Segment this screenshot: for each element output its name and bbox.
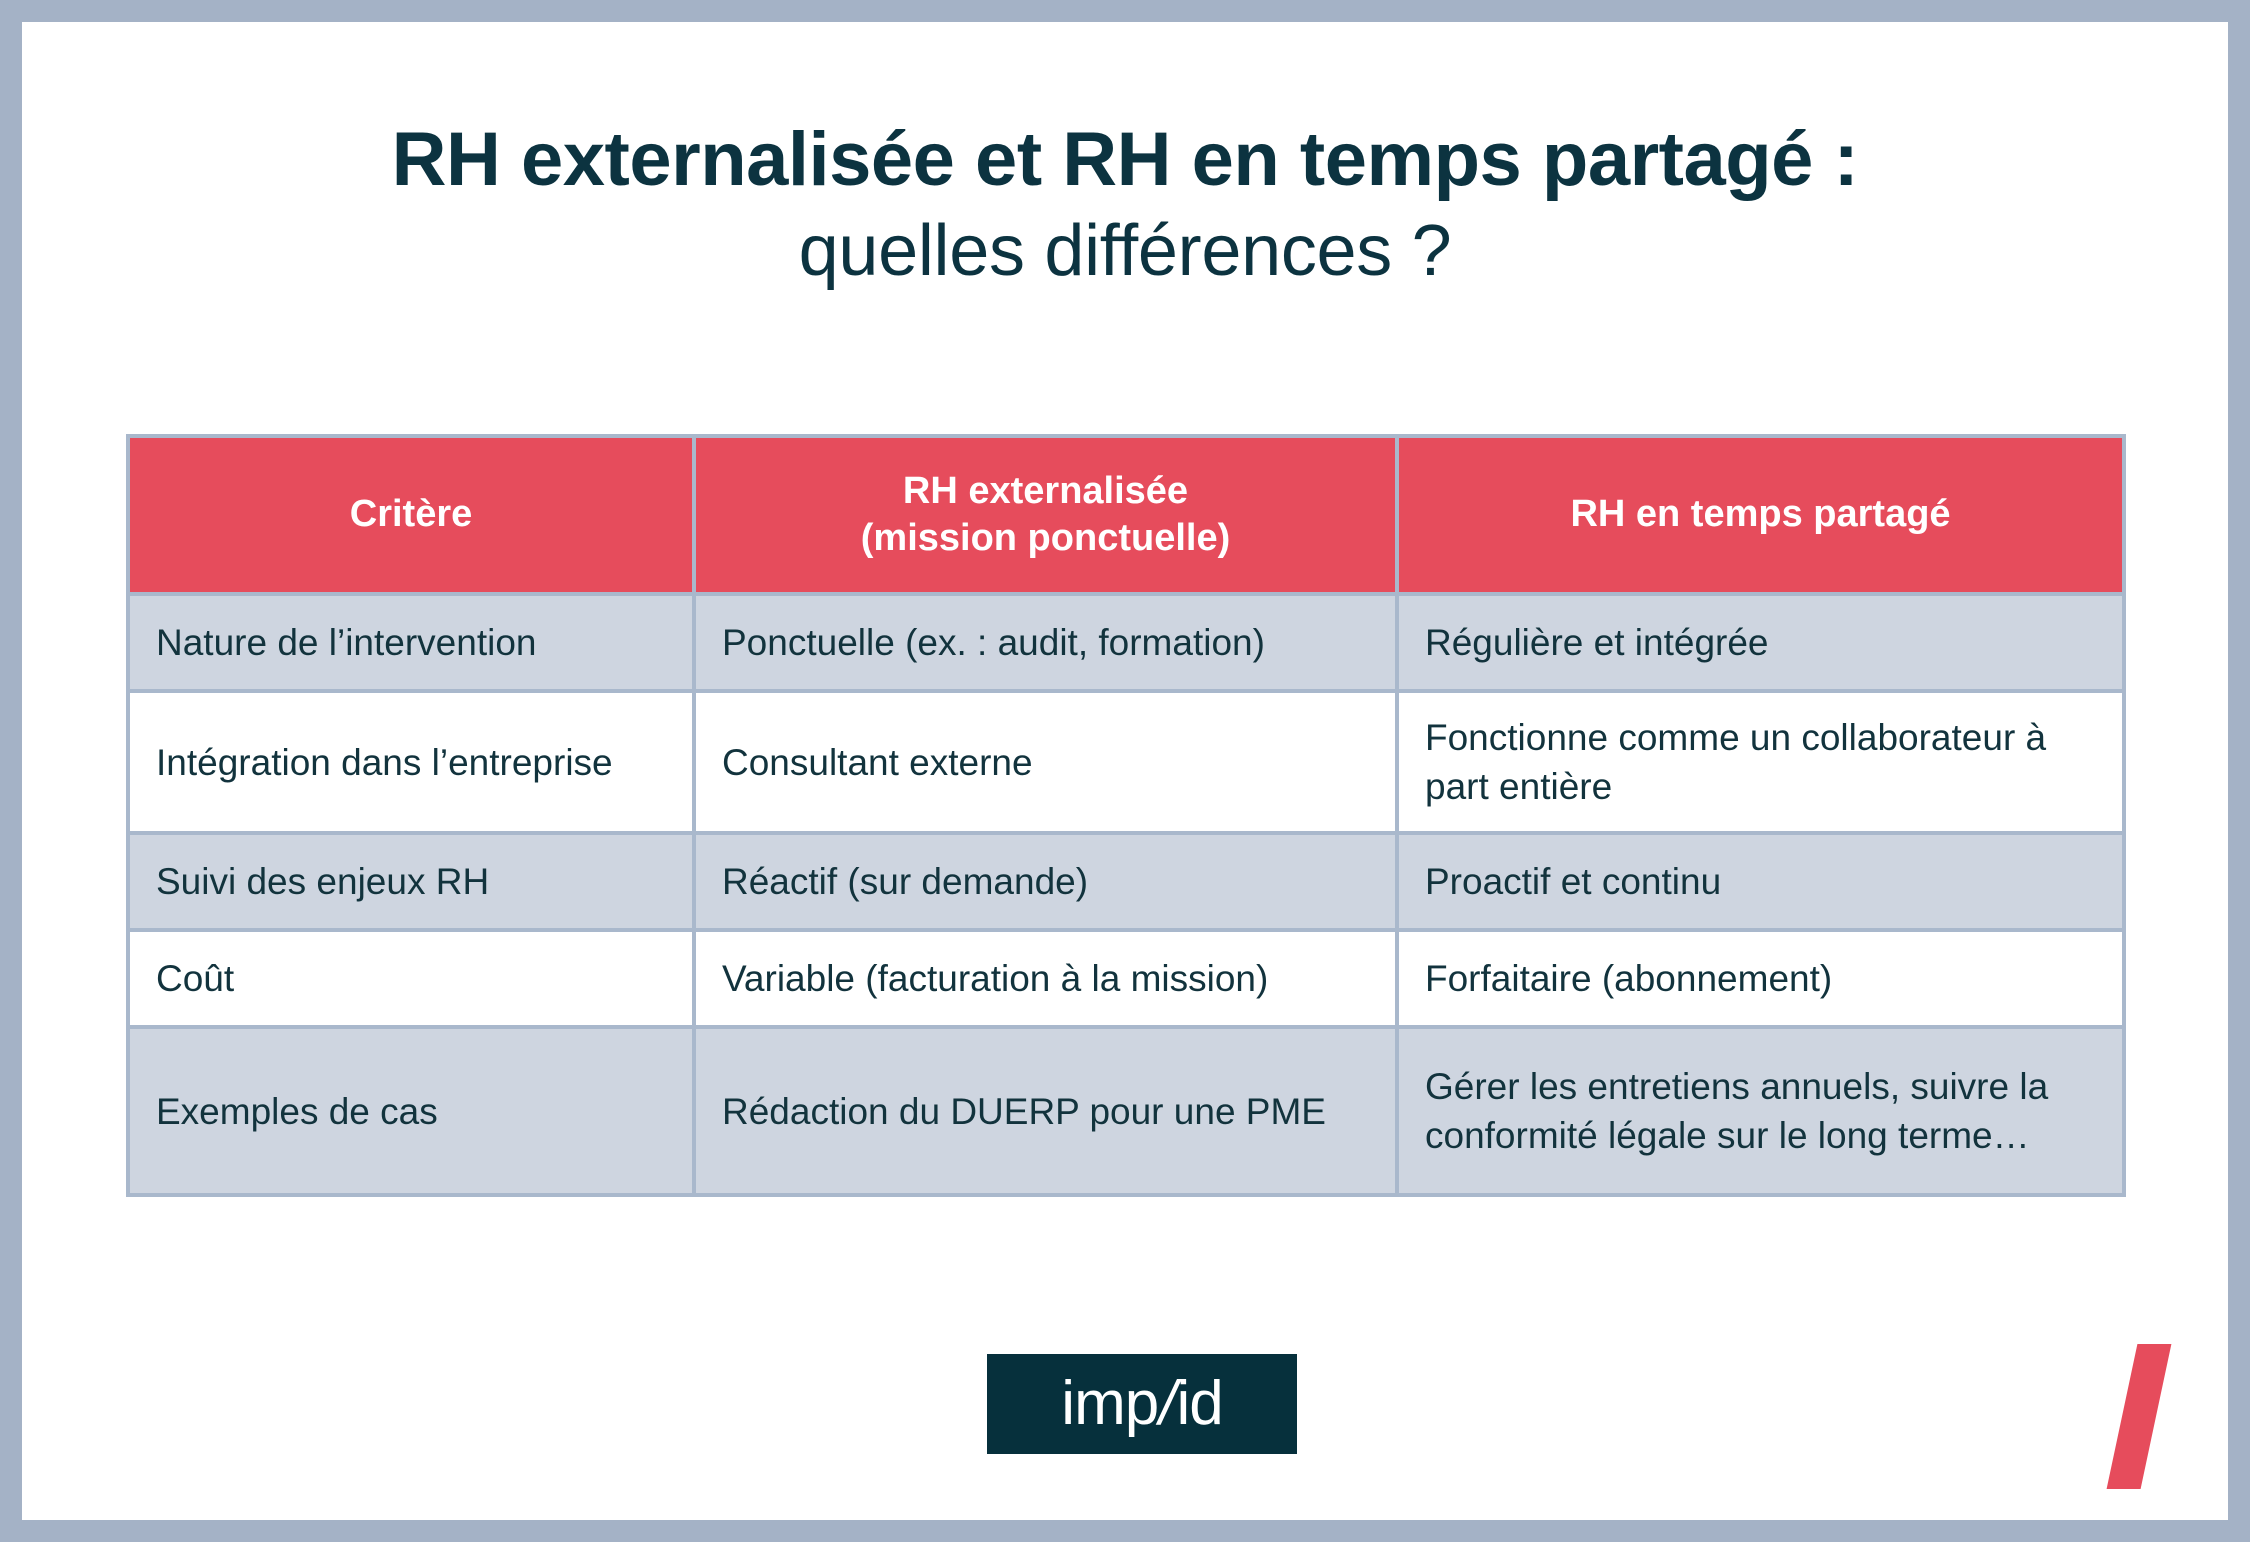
table-body: Nature de l’intervention Ponctuelle (ex.… — [128, 594, 2124, 1195]
comparison-table-wrapper: Critère RH externalisée (mission ponctue… — [126, 434, 2126, 1197]
slide-frame: RH externalisée et RH en temps partagé :… — [0, 0, 2250, 1542]
logo-text-part-a: imp — [1061, 1369, 1158, 1438]
cell-externalisee: Consultant externe — [694, 691, 1397, 833]
cell-temps-partage: Régulière et intégrée — [1397, 594, 2124, 691]
table-header: Critère RH externalisée (mission ponctue… — [128, 436, 2124, 594]
cell-temps-partage: Forfaitaire (abonnement) — [1397, 930, 2124, 1027]
column-header-rh-externalisee: RH externalisée (mission ponctuelle) — [694, 436, 1397, 594]
column-header-criterion: Critère — [128, 436, 694, 594]
cell-criterion: Intégration dans l’entreprise — [128, 691, 694, 833]
logo-text-part-b: id — [1176, 1369, 1222, 1438]
implid-logo: imp/id — [987, 1354, 1297, 1454]
comparison-table: Critère RH externalisée (mission ponctue… — [126, 434, 2126, 1197]
page-subtitle: quelles différences ? — [22, 208, 2228, 294]
column-header-rh-externalisee-line2: (mission ponctuelle) — [861, 517, 1230, 559]
cell-criterion: Coût — [128, 930, 694, 1027]
table-row: Intégration dans l’entreprise Consultant… — [128, 691, 2124, 833]
cell-temps-partage: Proactif et continu — [1397, 833, 2124, 930]
column-header-rh-externalisee-line1: RH externalisée — [903, 470, 1188, 512]
cell-criterion: Suivi des enjeux RH — [128, 833, 694, 930]
cell-criterion: Exemples de cas — [128, 1027, 694, 1195]
column-header-rh-temps-partage: RH en temps partagé — [1397, 436, 2124, 594]
cell-temps-partage: Gérer les entretiens annuels, suivre la … — [1397, 1027, 2124, 1195]
logo-wordmark: imp/id — [1061, 1373, 1222, 1435]
title-block: RH externalisée et RH en temps partagé :… — [22, 117, 2228, 295]
cell-externalisee: Variable (facturation à la mission) — [694, 930, 1397, 1027]
table-row: Suivi des enjeux RH Réactif (sur demande… — [128, 833, 2124, 930]
table-row: Nature de l’intervention Ponctuelle (ex.… — [128, 594, 2124, 691]
accent-slash-mark — [2107, 1344, 2172, 1489]
cell-temps-partage: Fonctionne comme un collaborateur à part… — [1397, 691, 2124, 833]
logo-slash-glyph: / — [1158, 1369, 1176, 1438]
cell-criterion: Nature de l’intervention — [128, 594, 694, 691]
table-row: Coût Variable (facturation à la mission)… — [128, 930, 2124, 1027]
table-header-row: Critère RH externalisée (mission ponctue… — [128, 436, 2124, 594]
table-row: Exemples de cas Rédaction du DUERP pour … — [128, 1027, 2124, 1195]
slide-canvas: RH externalisée et RH en temps partagé :… — [22, 22, 2228, 1520]
cell-externalisee: Ponctuelle (ex. : audit, formation) — [694, 594, 1397, 691]
cell-externalisee: Réactif (sur demande) — [694, 833, 1397, 930]
page-title: RH externalisée et RH en temps partagé : — [22, 117, 2228, 202]
cell-externalisee: Rédaction du DUERP pour une PME — [694, 1027, 1397, 1195]
